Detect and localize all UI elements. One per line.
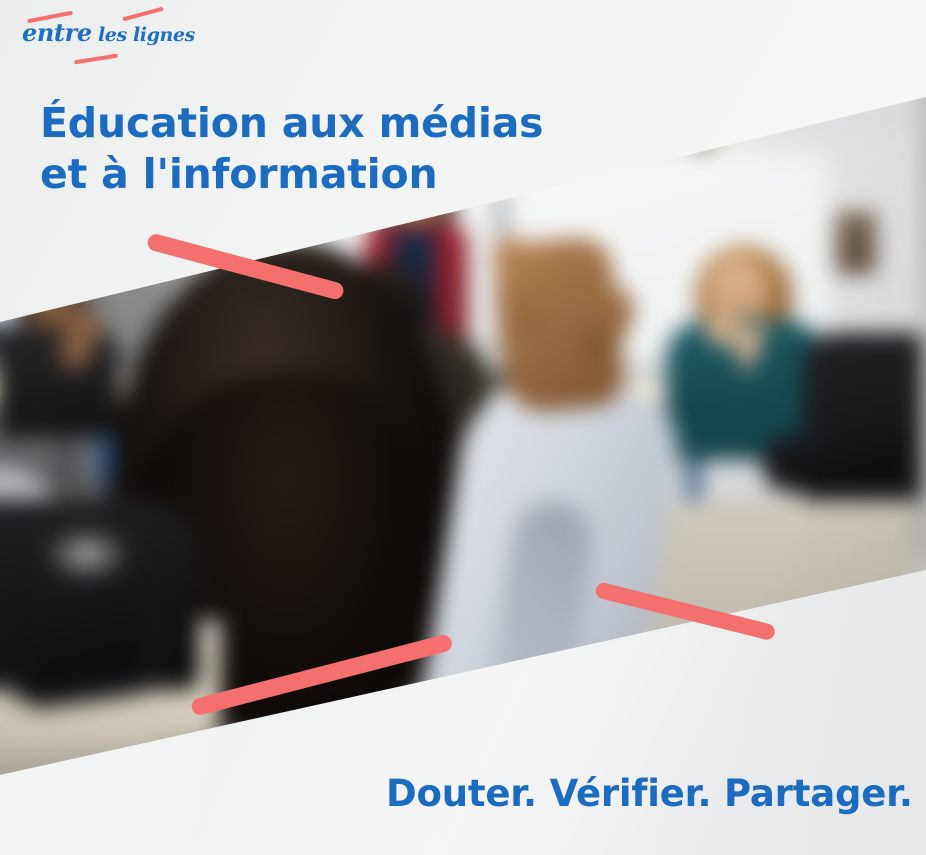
headline-line-2: et à l'information [40, 149, 680, 200]
coral-dash-bottom-icon [74, 54, 118, 65]
logo-word-entre: entre [22, 18, 92, 47]
logo-entre-les-lignes[interactable]: entre les lignes [22, 12, 174, 64]
logo-word-lignes: lignes [133, 24, 195, 46]
headline-line-1: Éducation aux médias [40, 99, 543, 147]
logo-word-les: les [98, 24, 127, 46]
logo-wordmark: entre les lignes [22, 18, 195, 47]
poster-canvas: entre les lignes Éducation aux médias et… [0, 0, 926, 855]
tagline: Douter. Vérifier. Partager. [386, 772, 913, 815]
page-title: Éducation aux médias et à l'information [40, 98, 680, 201]
